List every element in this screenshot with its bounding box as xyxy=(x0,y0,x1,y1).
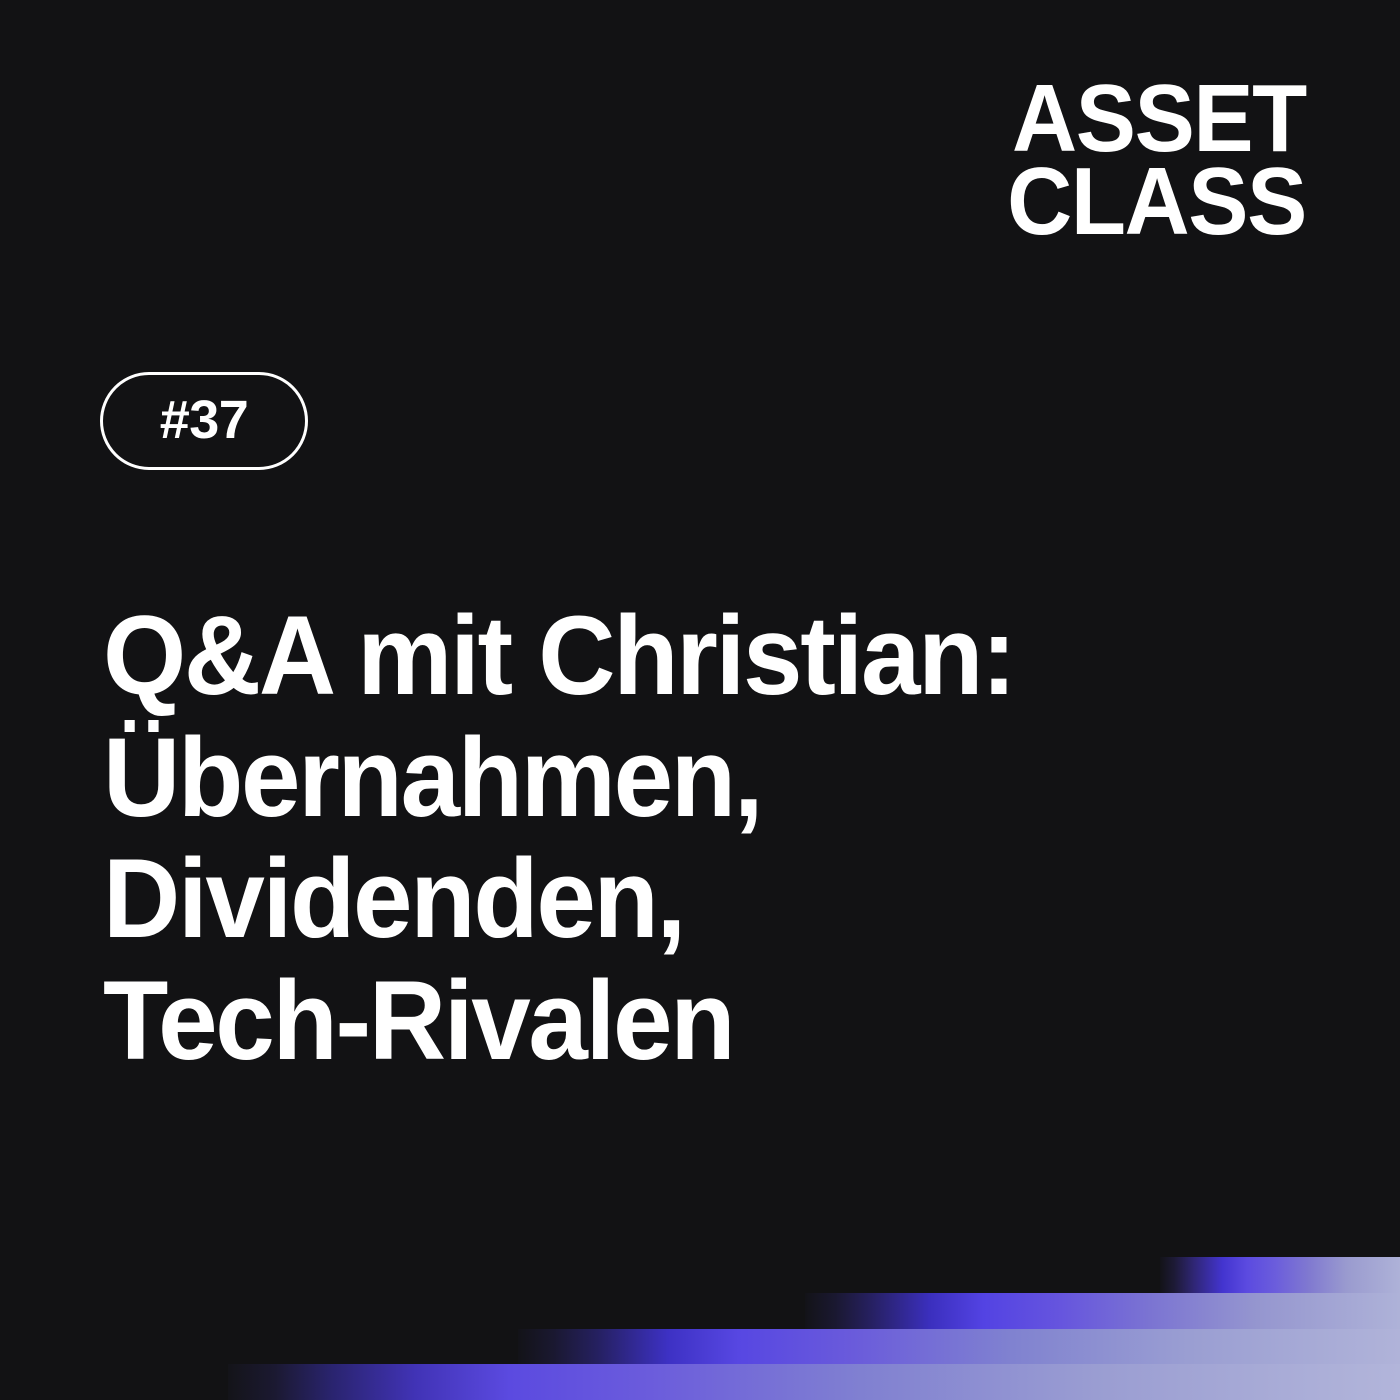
episode-title-line-1: Q&A mit Christian: xyxy=(103,595,1230,717)
episode-number-label: #37 xyxy=(160,393,249,447)
brand-logo-line-2: CLASS xyxy=(1007,161,1306,244)
episode-title-line-2: Übernahmen, xyxy=(103,717,1230,839)
episode-number-badge: #37 xyxy=(100,372,308,470)
brand-logo: ASSET CLASS xyxy=(1007,78,1306,243)
episode-title-line-4: Tech-Rivalen xyxy=(103,960,1230,1082)
episode-title-line-3: Dividenden, xyxy=(103,838,1230,960)
episode-title: Q&A mit Christian: Übernahmen, Dividende… xyxy=(103,595,1230,1081)
cover-content: ASSET CLASS #37 Q&A mit Christian: Übern… xyxy=(0,0,1400,1400)
podcast-cover-art: ASSET CLASS #37 Q&A mit Christian: Übern… xyxy=(0,0,1400,1400)
